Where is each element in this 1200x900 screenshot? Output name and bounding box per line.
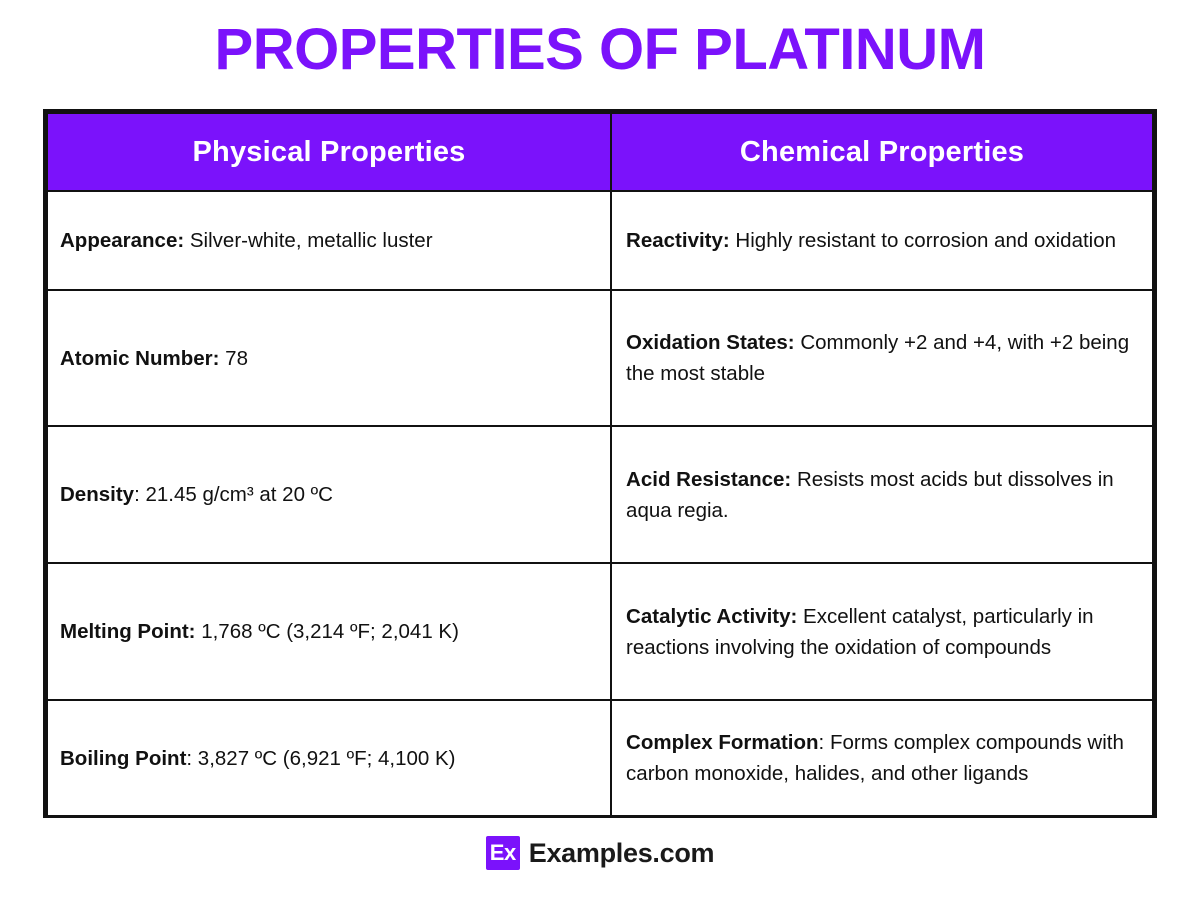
property-value: : 3,827 ºC (6,921 ºF; 4,100 K)	[186, 747, 455, 770]
property-label: Catalytic Activity:	[626, 605, 797, 628]
examples-logo-icon: Ex	[486, 836, 520, 870]
property-label: Density	[60, 483, 134, 506]
property-label: Melting Point:	[60, 620, 196, 643]
column-header-physical: Physical Properties	[47, 113, 611, 191]
table-header-row: Physical Properties Chemical Properties	[47, 113, 1153, 191]
property-value: 78	[219, 347, 248, 370]
property-label: Boiling Point	[60, 747, 186, 770]
cell-chemical-oxidation-states: Oxidation States: Commonly +2 and +4, wi…	[611, 290, 1153, 426]
cell-chemical-reactivity: Reactivity: Highly resistant to corrosio…	[611, 191, 1153, 290]
cell-physical-melting-point: Melting Point: 1,768 ºC (3,214 ºF; 2,041…	[47, 563, 611, 700]
property-label: Complex Formation	[626, 731, 819, 754]
cell-chemical-catalytic-activity: Catalytic Activity: Excellent catalyst, …	[611, 563, 1153, 700]
page-title: PROPERTIES OF PLATINUM	[0, 14, 1200, 86]
cell-physical-appearance: Appearance: Silver-white, metallic luste…	[47, 191, 611, 290]
property-label: Acid Resistance:	[626, 468, 791, 491]
properties-table-container: Physical Properties Chemical Properties …	[43, 109, 1157, 818]
property-label: Appearance:	[60, 229, 184, 252]
column-header-chemical: Chemical Properties	[611, 113, 1153, 191]
cell-physical-boiling-point: Boiling Point: 3,827 ºC (6,921 ºF; 4,100…	[47, 700, 611, 816]
table-row: Atomic Number: 78 Oxidation States: Comm…	[47, 290, 1153, 426]
property-value: : 21.45 g/cm³ at 20 ºC	[134, 483, 333, 506]
cell-physical-density: Density: 21.45 g/cm³ at 20 ºC	[47, 426, 611, 563]
properties-table: Physical Properties Chemical Properties …	[46, 112, 1154, 817]
property-label: Reactivity:	[626, 229, 730, 252]
property-value: Silver-white, metallic luster	[184, 229, 432, 252]
table-row: Appearance: Silver-white, metallic luste…	[47, 191, 1153, 290]
property-label: Oxidation States:	[626, 331, 795, 354]
table-row: Melting Point: 1,768 ºC (3,214 ºF; 2,041…	[47, 563, 1153, 700]
property-value: Highly resistant to corrosion and oxidat…	[730, 229, 1116, 252]
page-root: PROPERTIES OF PLATINUM Physical Properti…	[0, 0, 1200, 900]
footer-branding: Ex Examples.com	[0, 836, 1200, 870]
brand-name: Examples.com	[529, 838, 715, 869]
cell-chemical-acid-resistance: Acid Resistance: Resists most acids but …	[611, 426, 1153, 563]
table-row: Density: 21.45 g/cm³ at 20 ºC Acid Resis…	[47, 426, 1153, 563]
cell-chemical-complex-formation: Complex Formation: Forms complex compoun…	[611, 700, 1153, 816]
property-label: Atomic Number:	[60, 347, 219, 370]
table-row: Boiling Point: 3,827 ºC (6,921 ºF; 4,100…	[47, 700, 1153, 816]
cell-physical-atomic-number: Atomic Number: 78	[47, 290, 611, 426]
property-value: 1,768 ºC (3,214 ºF; 2,041 K)	[196, 620, 459, 643]
